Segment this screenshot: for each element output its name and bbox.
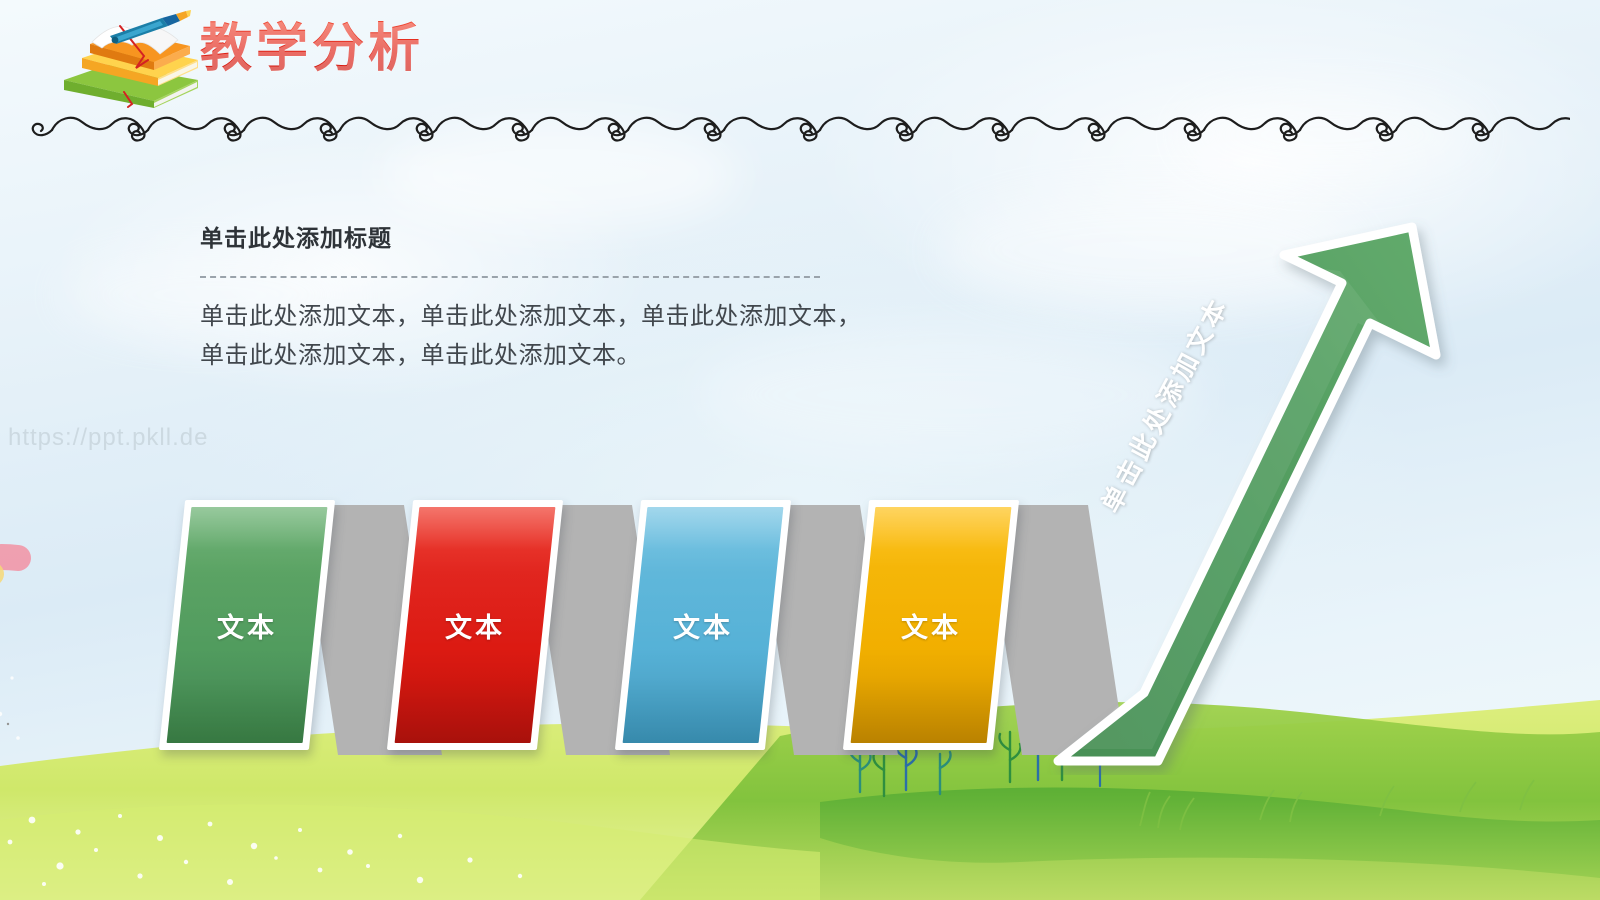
watermark-url: https://ppt.pkll.de [8,424,208,452]
content-body[interactable]: 单击此处添加文本，单击此处添加文本，单击此处添加文本， 单击此处添加文本，单击此… [200,298,1030,376]
slide-canvas: 教学分析 单击此处添加标题 [0,0,1600,900]
step-fill-2: 文本 [395,507,556,743]
step-block-2[interactable]: 文本 [387,500,563,750]
step-label-1: 文本 [217,606,277,645]
text-content-block: 单击此处添加标题 单击此处添加文本，单击此处添加文本，单击此处添加文本， 单击此… [200,222,1030,376]
body-line-1: 单击此处添加文本，单击此处添加文本，单击此处添加文本， [200,298,1030,337]
dashed-divider [200,276,820,278]
step-fill-3: 文本 [623,507,784,743]
step-fill-4: 文本 [851,507,1012,743]
step-block-3[interactable]: 文本 [615,500,791,750]
step-label-2: 文本 [445,606,505,645]
step-label-3: 文本 [673,606,733,645]
step-fill-1: 文本 [167,507,328,743]
stack-of-books-icon [58,8,204,108]
step-block-4[interactable]: 文本 [843,500,1019,750]
step-label-4: 文本 [901,606,961,645]
slide-header: 教学分析 [0,0,1600,150]
flourish-divider-icon [30,110,1570,144]
step-block-1[interactable]: 文本 [159,500,335,750]
content-heading[interactable]: 单击此处添加标题 [200,222,1030,254]
body-line-2: 单击此处添加文本，单击此处添加文本。 [200,337,1030,376]
page-title: 教学分析 [200,20,424,80]
